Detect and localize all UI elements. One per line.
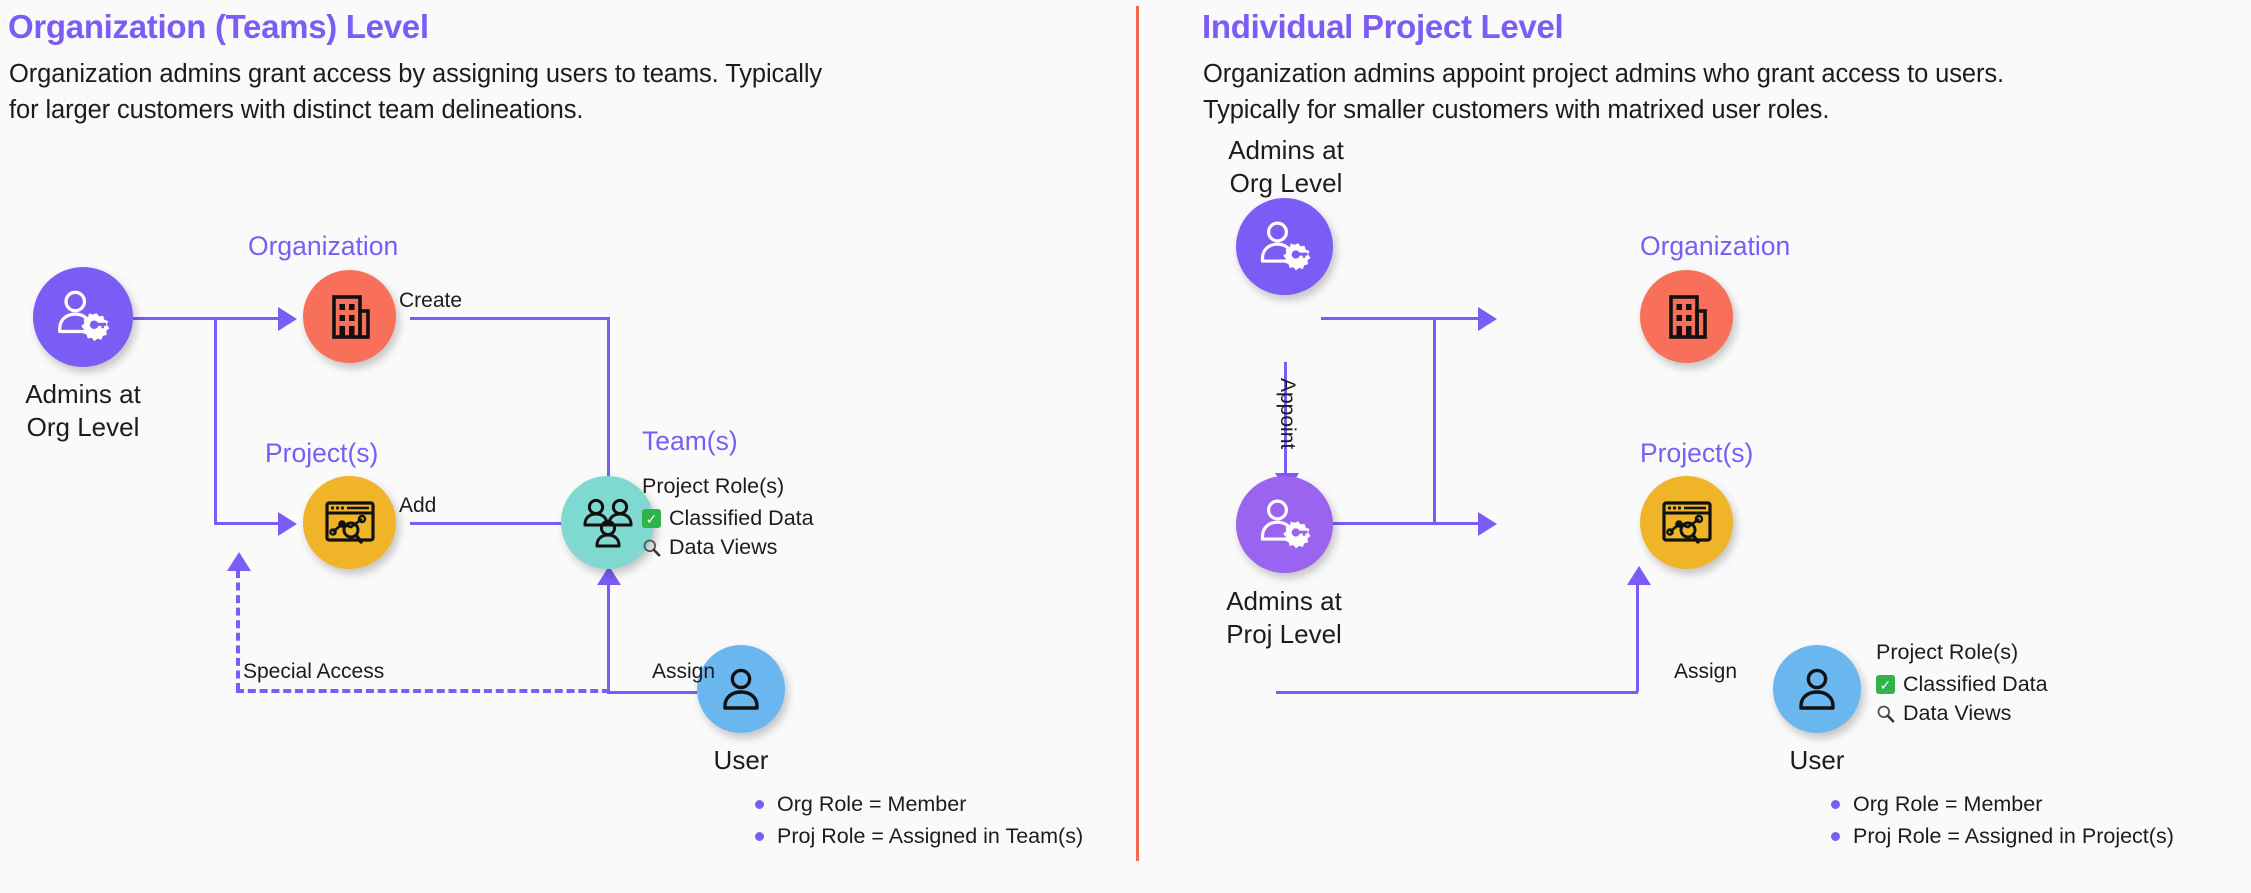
check-green-icon: ✓ — [1876, 675, 1895, 694]
left-panel-desc-line2: for larger customers with distinct team … — [9, 92, 1069, 128]
left-panel-desc-line1: Organization admins grant access by assi… — [9, 56, 1069, 92]
edge-label-assign: Assign — [652, 660, 715, 684]
connector-adminproj-horizontal — [1321, 522, 1481, 525]
edge-label-appoint: Appoint — [1275, 378, 1299, 449]
bullet-dot-icon — [755, 800, 764, 809]
right-panel-desc-line1: Organization admins appoint project admi… — [1203, 56, 2243, 92]
admin-org-level-label-line1: Admins at — [1221, 134, 1351, 167]
project-analytics-icon — [1660, 496, 1714, 550]
arrow-special-access-to-project — [227, 552, 251, 571]
connector-special-access-horizontal — [236, 689, 610, 693]
bullet-item: Org Role = Member — [1831, 792, 2174, 817]
admin-org-level-node[interactable] — [1236, 198, 1333, 295]
bullet-text: Proj Role = Assigned in Project(s) — [1853, 824, 2174, 849]
arrow-admin-to-org — [278, 307, 297, 331]
team-project-roles: Project Role(s) ✓ Classified Data Data V… — [642, 474, 814, 560]
project-analytics-icon — [323, 496, 377, 550]
user-role-bullets: Org Role = Member Proj Role = Assigned i… — [1831, 785, 2174, 849]
admin-proj-level-label-line1: Admins at — [1219, 585, 1349, 618]
user-node[interactable] — [697, 645, 785, 733]
role-item-data-views: Data Views — [1876, 701, 2048, 726]
user-label: User — [1773, 744, 1861, 777]
admin-org-level-label-line2: Org Level — [1221, 167, 1351, 200]
organization-teams-level-panel: Organization (Teams) Level Organization … — [0, 0, 1136, 893]
arrow-assign-to-project — [1627, 566, 1651, 585]
magnifier-icon — [642, 538, 661, 557]
role-label: Data Views — [669, 535, 777, 560]
admin-org-level-label-line2: Org Level — [8, 411, 158, 444]
role-item-classified-data: ✓ Classified Data — [642, 506, 814, 531]
user-project-roles: Project Role(s) ✓ Classified Data Data V… — [1876, 640, 2048, 726]
role-item-data-views: Data Views — [642, 535, 814, 560]
team-people-icon — [580, 495, 636, 551]
edge-label-create: Create — [399, 289, 462, 313]
arrow-admin-to-project — [278, 512, 297, 536]
admin-proj-level-node[interactable] — [1236, 476, 1333, 573]
team-node[interactable] — [561, 476, 654, 569]
connector-org-create-vertical — [607, 317, 610, 482]
connector-org-create-horizontal — [410, 317, 610, 320]
connector-user-assign-vertical — [1636, 584, 1639, 692]
user-role-bullets: Org Role = Member Proj Role = Assigned i… — [755, 785, 1083, 849]
bullet-text: Org Role = Member — [777, 792, 966, 817]
team-category-label: Team(s) — [642, 426, 738, 457]
edge-label-add: Add — [399, 494, 436, 518]
user-label: User — [697, 744, 785, 777]
connector-admin-to-org — [214, 317, 282, 320]
project-category-label: Project(s) — [1640, 438, 1753, 469]
connector-special-access-vertical — [236, 570, 240, 691]
user-person-icon — [717, 665, 765, 713]
organization-category-label: Organization — [1640, 231, 1790, 262]
connector-adminorg-horizontal — [1321, 317, 1481, 320]
admin-key-icon — [52, 286, 114, 348]
project-node[interactable] — [303, 476, 396, 569]
bullet-item: Proj Role = Assigned in Team(s) — [755, 824, 1083, 849]
bullet-dot-icon — [755, 832, 764, 841]
organization-node[interactable] — [1640, 270, 1733, 363]
right-panel-desc-line2: Typically for smaller customers with mat… — [1203, 92, 2243, 128]
role-item-classified-data: ✓ Classified Data — [1876, 672, 2048, 697]
left-panel-title: Organization (Teams) Level — [8, 8, 429, 46]
project-node[interactable] — [1640, 476, 1733, 569]
connector-admin-to-project — [214, 522, 282, 525]
connector-user-assign-horizontal — [607, 691, 697, 694]
admin-key-icon — [1255, 495, 1315, 555]
bullet-text: Proj Role = Assigned in Team(s) — [777, 824, 1083, 849]
connector-user-assign-horizontal — [1276, 691, 1638, 694]
edge-label-assign: Assign — [1674, 660, 1737, 684]
role-label: Classified Data — [669, 506, 814, 531]
arrow-adminproj-to-project — [1478, 512, 1497, 536]
bullet-item: Proj Role = Assigned in Project(s) — [1831, 824, 2174, 849]
check-green-icon: ✓ — [642, 509, 661, 528]
role-label: Data Views — [1903, 701, 2011, 726]
organization-node[interactable] — [303, 270, 396, 363]
bullet-dot-icon — [1831, 832, 1840, 841]
connector-user-assign-vertical — [607, 584, 610, 692]
bullet-item: Org Role = Member — [755, 792, 1083, 817]
user-person-icon — [1793, 665, 1841, 713]
user-node[interactable] — [1773, 645, 1861, 733]
team-roles-title: Project Role(s) — [642, 474, 814, 499]
connector-project-add — [410, 522, 570, 525]
edge-label-special-access: Special Access — [243, 660, 384, 684]
project-category-label: Project(s) — [265, 438, 378, 469]
connector-admin-rail-vertical — [1433, 317, 1436, 524]
building-icon — [1661, 291, 1713, 343]
individual-project-level-panel: Individual Project Level Organization ad… — [1136, 0, 2251, 893]
organization-category-label: Organization — [248, 231, 398, 262]
admin-org-level-node[interactable] — [33, 267, 133, 367]
magnifier-icon — [1876, 704, 1895, 723]
admin-proj-level-label-line2: Proj Level — [1219, 618, 1349, 651]
admin-key-icon — [1255, 217, 1315, 277]
user-roles-title: Project Role(s) — [1876, 640, 2048, 665]
role-label: Classified Data — [1903, 672, 2048, 697]
bullet-dot-icon — [1831, 800, 1840, 809]
admin-org-level-label-line1: Admins at — [8, 378, 158, 411]
connector-admin-vertical — [214, 317, 217, 524]
building-icon — [324, 291, 376, 343]
bullet-text: Org Role = Member — [1853, 792, 2042, 817]
right-panel-title: Individual Project Level — [1202, 8, 1563, 46]
arrow-adminorg-to-org — [1478, 307, 1497, 331]
